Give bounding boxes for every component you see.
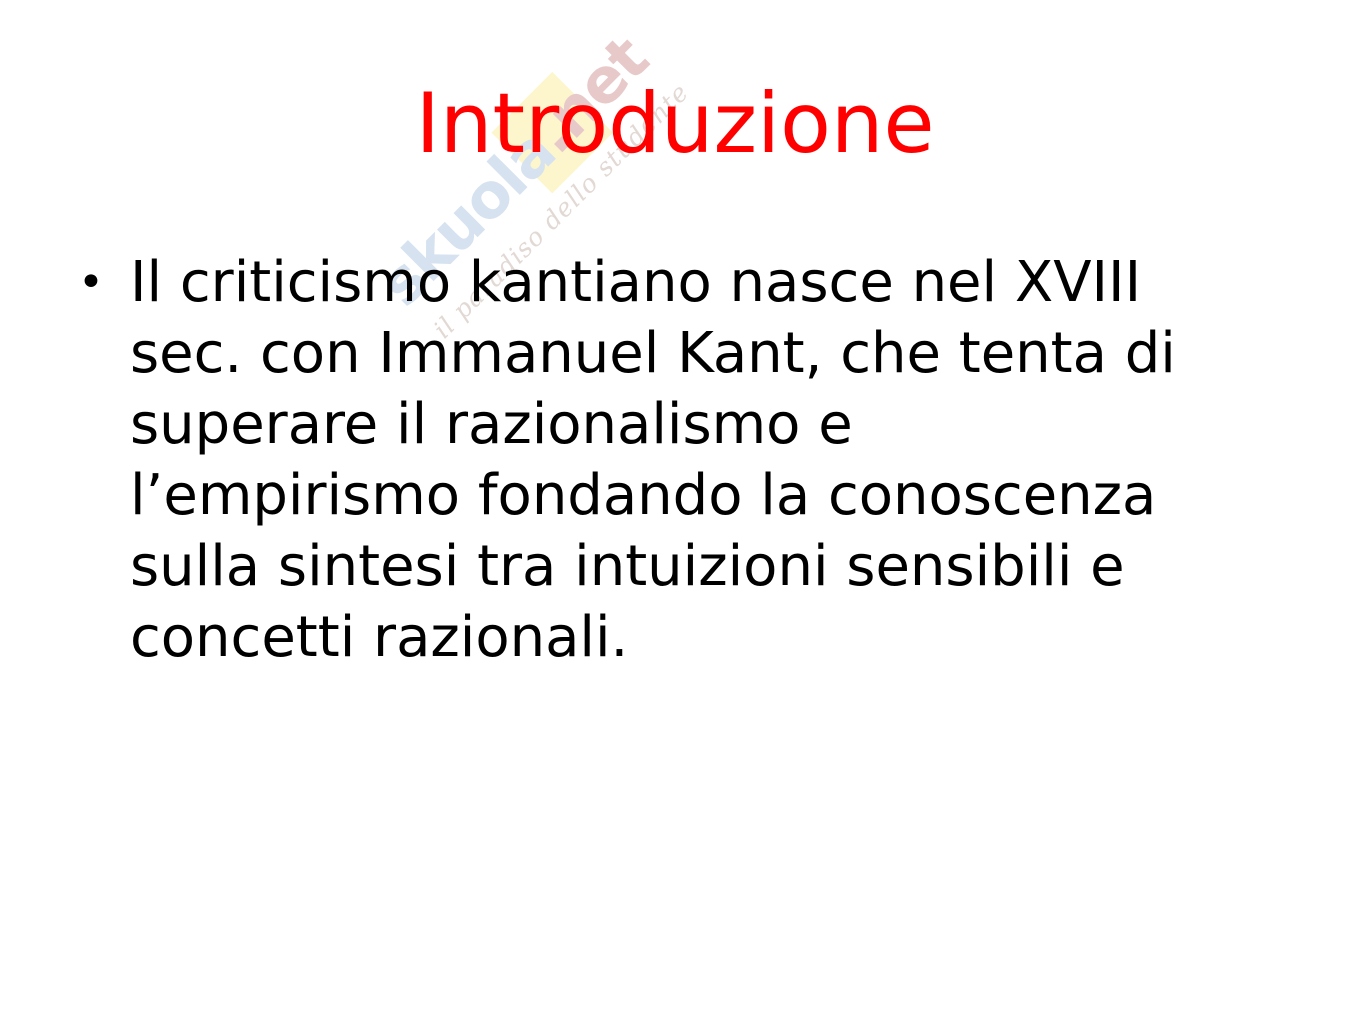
slide-body: • Il criticismo kantiano nasce nel XVIII… xyxy=(78,247,1278,673)
slide-title: Introduzione xyxy=(0,76,1350,172)
bullet-item-text: Il criticismo kantiano nasce nel XVIII s… xyxy=(130,247,1230,673)
bullet-point-icon: • xyxy=(78,247,130,318)
bullet-list-item: • Il criticismo kantiano nasce nel XVIII… xyxy=(78,247,1278,673)
presentation-slide: skuola.net il paradiso dello studente In… xyxy=(0,0,1350,1013)
